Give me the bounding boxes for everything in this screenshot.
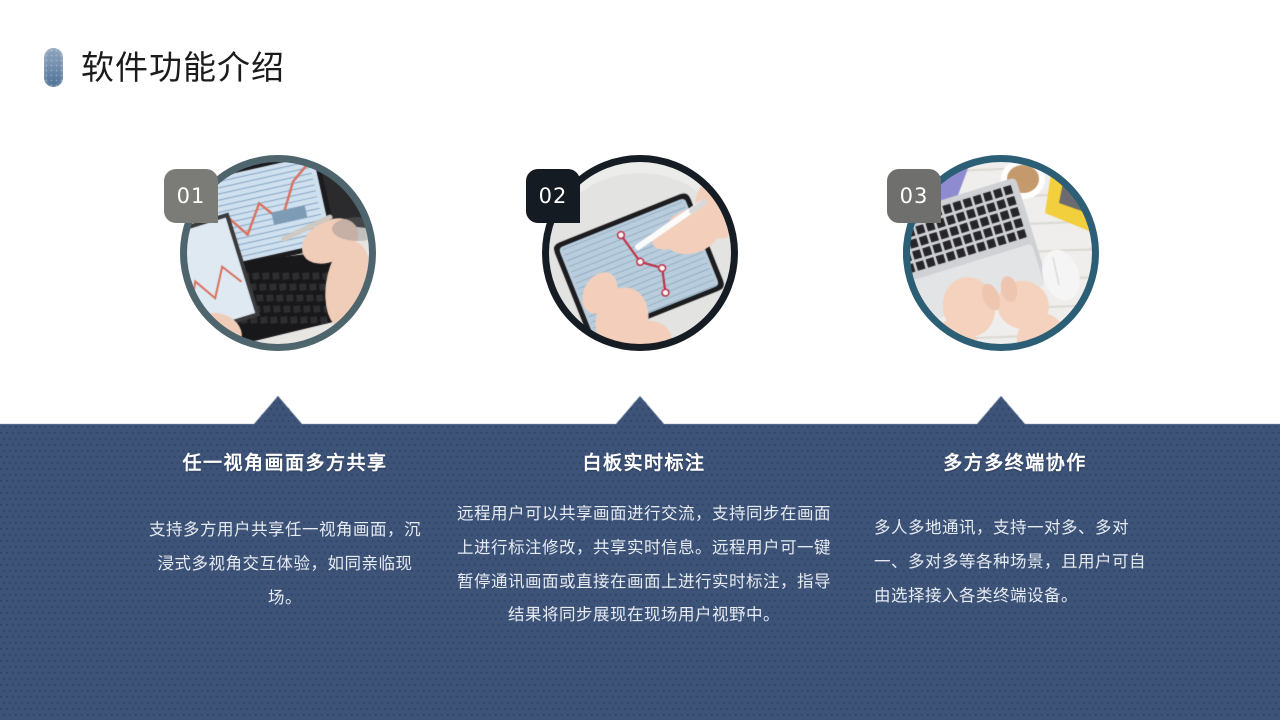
feature-column-1: 任一视角画面多方共享 支持多方用户共享任一视角画面，沉浸式多视角交互体验，如同亲…: [130, 448, 440, 614]
feature-circle-2[interactable]: 02: [542, 155, 738, 351]
feature-title-1: 任一视角画面多方共享: [130, 448, 440, 475]
badge-01: 01: [164, 169, 218, 223]
feature-column-3: 多方多终端协作 多人多地通讯，支持一对多、多对一、多对多等各种场景，且用户可自由…: [860, 448, 1170, 612]
badge-label-1: 01: [177, 184, 206, 208]
feature-circle-3[interactable]: 03: [903, 155, 1099, 351]
feature-text-panel: 任一视角画面多方共享 支持多方用户共享任一视角画面，沉浸式多视角交互体验，如同亲…: [0, 396, 1280, 720]
feature-column-2: 白板实时标注 远程用户可以共享画面进行交流，支持同步在画面上进行标注修改，共享实…: [444, 448, 844, 632]
badge-03: 03: [887, 169, 941, 223]
feature-body-1: 支持多方用户共享任一视角画面，沉浸式多视角交互体验，如同亲临现场。: [130, 513, 440, 614]
badge-label-2: 02: [539, 184, 568, 208]
circle-image-deck: 01 02 03: [0, 0, 1280, 400]
badge-02: 02: [526, 169, 580, 223]
badge-label-3: 03: [900, 184, 929, 208]
feature-body-2: 远程用户可以共享画面进行交流，支持同步在画面上进行标注修改，共享实时信息。远程用…: [444, 497, 844, 632]
feature-circle-1[interactable]: 01: [180, 155, 376, 351]
feature-title-3: 多方多终端协作: [860, 448, 1170, 475]
feature-title-2: 白板实时标注: [444, 448, 844, 475]
feature-body-3: 多人多地通讯，支持一对多、多对一、多对多等各种场景，且用户可自由选择接入各类终端…: [860, 511, 1170, 612]
panel-columns: 任一视角画面多方共享 支持多方用户共享任一视角画面，沉浸式多视角交互体验，如同亲…: [0, 396, 1280, 720]
